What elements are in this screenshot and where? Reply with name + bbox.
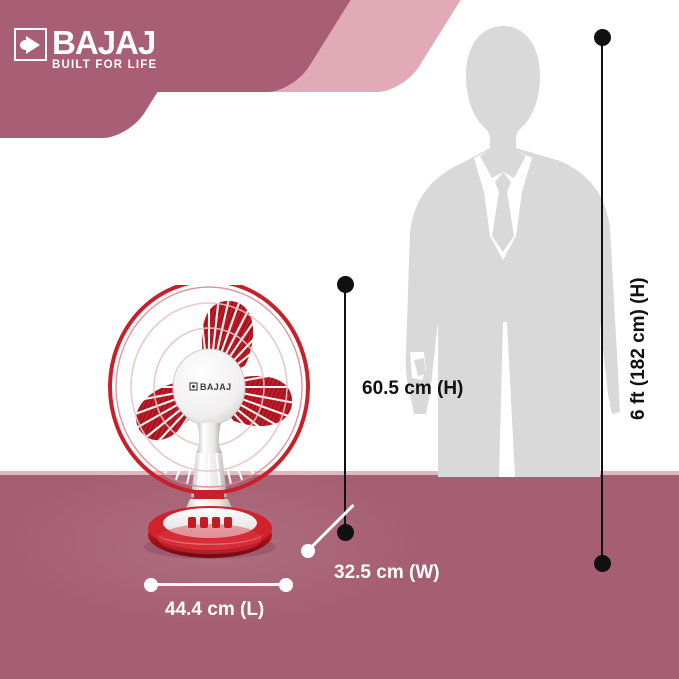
person-height-top-dot (594, 29, 611, 46)
bajaj-arrow-eye-icon (14, 28, 47, 61)
person-height-line (601, 37, 603, 563)
person-height-bottom-dot (594, 555, 611, 572)
fan-width-label: 32.5 cm (W) (334, 562, 440, 584)
svg-text:BAJAJ: BAJAJ (200, 382, 232, 392)
brand-logo: BAJAJ BUILT FOR LIFE (14, 27, 157, 71)
brand-name: BAJAJ (52, 27, 157, 58)
fan-length-line (150, 583, 285, 586)
fan-length-right-dot (279, 578, 293, 592)
fan-height-line (344, 284, 346, 532)
fan-height-label: 60.5 cm (H) (362, 378, 463, 400)
person-silhouette (404, 22, 624, 477)
infographic-canvas: BAJAJ BUILT FOR LIFE (0, 0, 679, 679)
table-fan-product: BAJAJ (108, 285, 323, 560)
brand-logo-text: BAJAJ BUILT FOR LIFE (52, 27, 157, 71)
fan-height-top-dot (337, 276, 354, 293)
logo-arrow-shape (26, 36, 40, 54)
brand-tagline: BUILT FOR LIFE (52, 59, 157, 71)
fan-length-left-dot (144, 578, 158, 592)
fan-height-bottom-dot (337, 524, 354, 541)
fan-length-label: 44.4 cm (L) (165, 599, 264, 621)
person-height-label: 6 ft (182 cm) (H) (628, 277, 650, 420)
